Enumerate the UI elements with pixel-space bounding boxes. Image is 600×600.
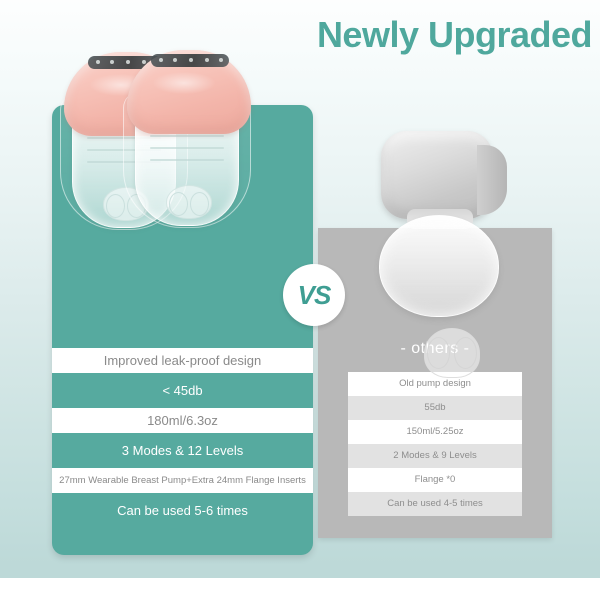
gray-pump-cap-side [477, 145, 507, 215]
others-feature-row: Old pump design [348, 372, 522, 396]
vs-badge: VS [283, 264, 345, 326]
upgraded-feature-row: 3 Modes & 12 Levels [52, 438, 313, 463]
pink-pump-primary [121, 44, 253, 230]
pink-wearable-pump-image [58, 44, 310, 234]
gray-pump-flange-insert [424, 328, 480, 378]
pump-motor-cap [127, 50, 251, 134]
pump-cap-highlight [153, 72, 215, 94]
upgraded-feature-row: < 45db [52, 378, 313, 403]
page-title: Newly Upgraded [262, 14, 592, 56]
others-feature-row: Can be used 4-5 times [348, 492, 522, 516]
others-feature-row: 2 Modes & 9 Levels [348, 444, 522, 468]
others-feature-row: 150ml/5.25oz [348, 420, 522, 444]
bottom-white-strip [0, 578, 600, 600]
gray-old-pump-image [367, 131, 519, 317]
upgraded-feature-row: 180ml/6.3oz [52, 408, 313, 433]
others-feature-table: Old pump design55db150ml/5.25oz2 Modes &… [348, 372, 522, 516]
others-feature-row: Flange *0 [348, 468, 522, 492]
vs-label: VS [298, 280, 331, 311]
upgraded-feature-list: Improved leak-proof design< 45db180ml/6.… [52, 348, 313, 523]
upgraded-feature-row: Can be used 5-6 times [52, 498, 313, 523]
gray-pump-bottle [379, 215, 499, 317]
pump-control-strip [151, 54, 229, 67]
pump-flange-insert [166, 185, 212, 219]
upgraded-feature-row: Improved leak-proof design [52, 348, 313, 373]
infographic-canvas: Newly Upgraded - others - Old pump desig… [0, 0, 600, 600]
others-feature-row: 55db [348, 396, 522, 420]
upgraded-feature-row: 27mm Wearable Breast Pump+Extra 24mm Fla… [52, 468, 313, 493]
